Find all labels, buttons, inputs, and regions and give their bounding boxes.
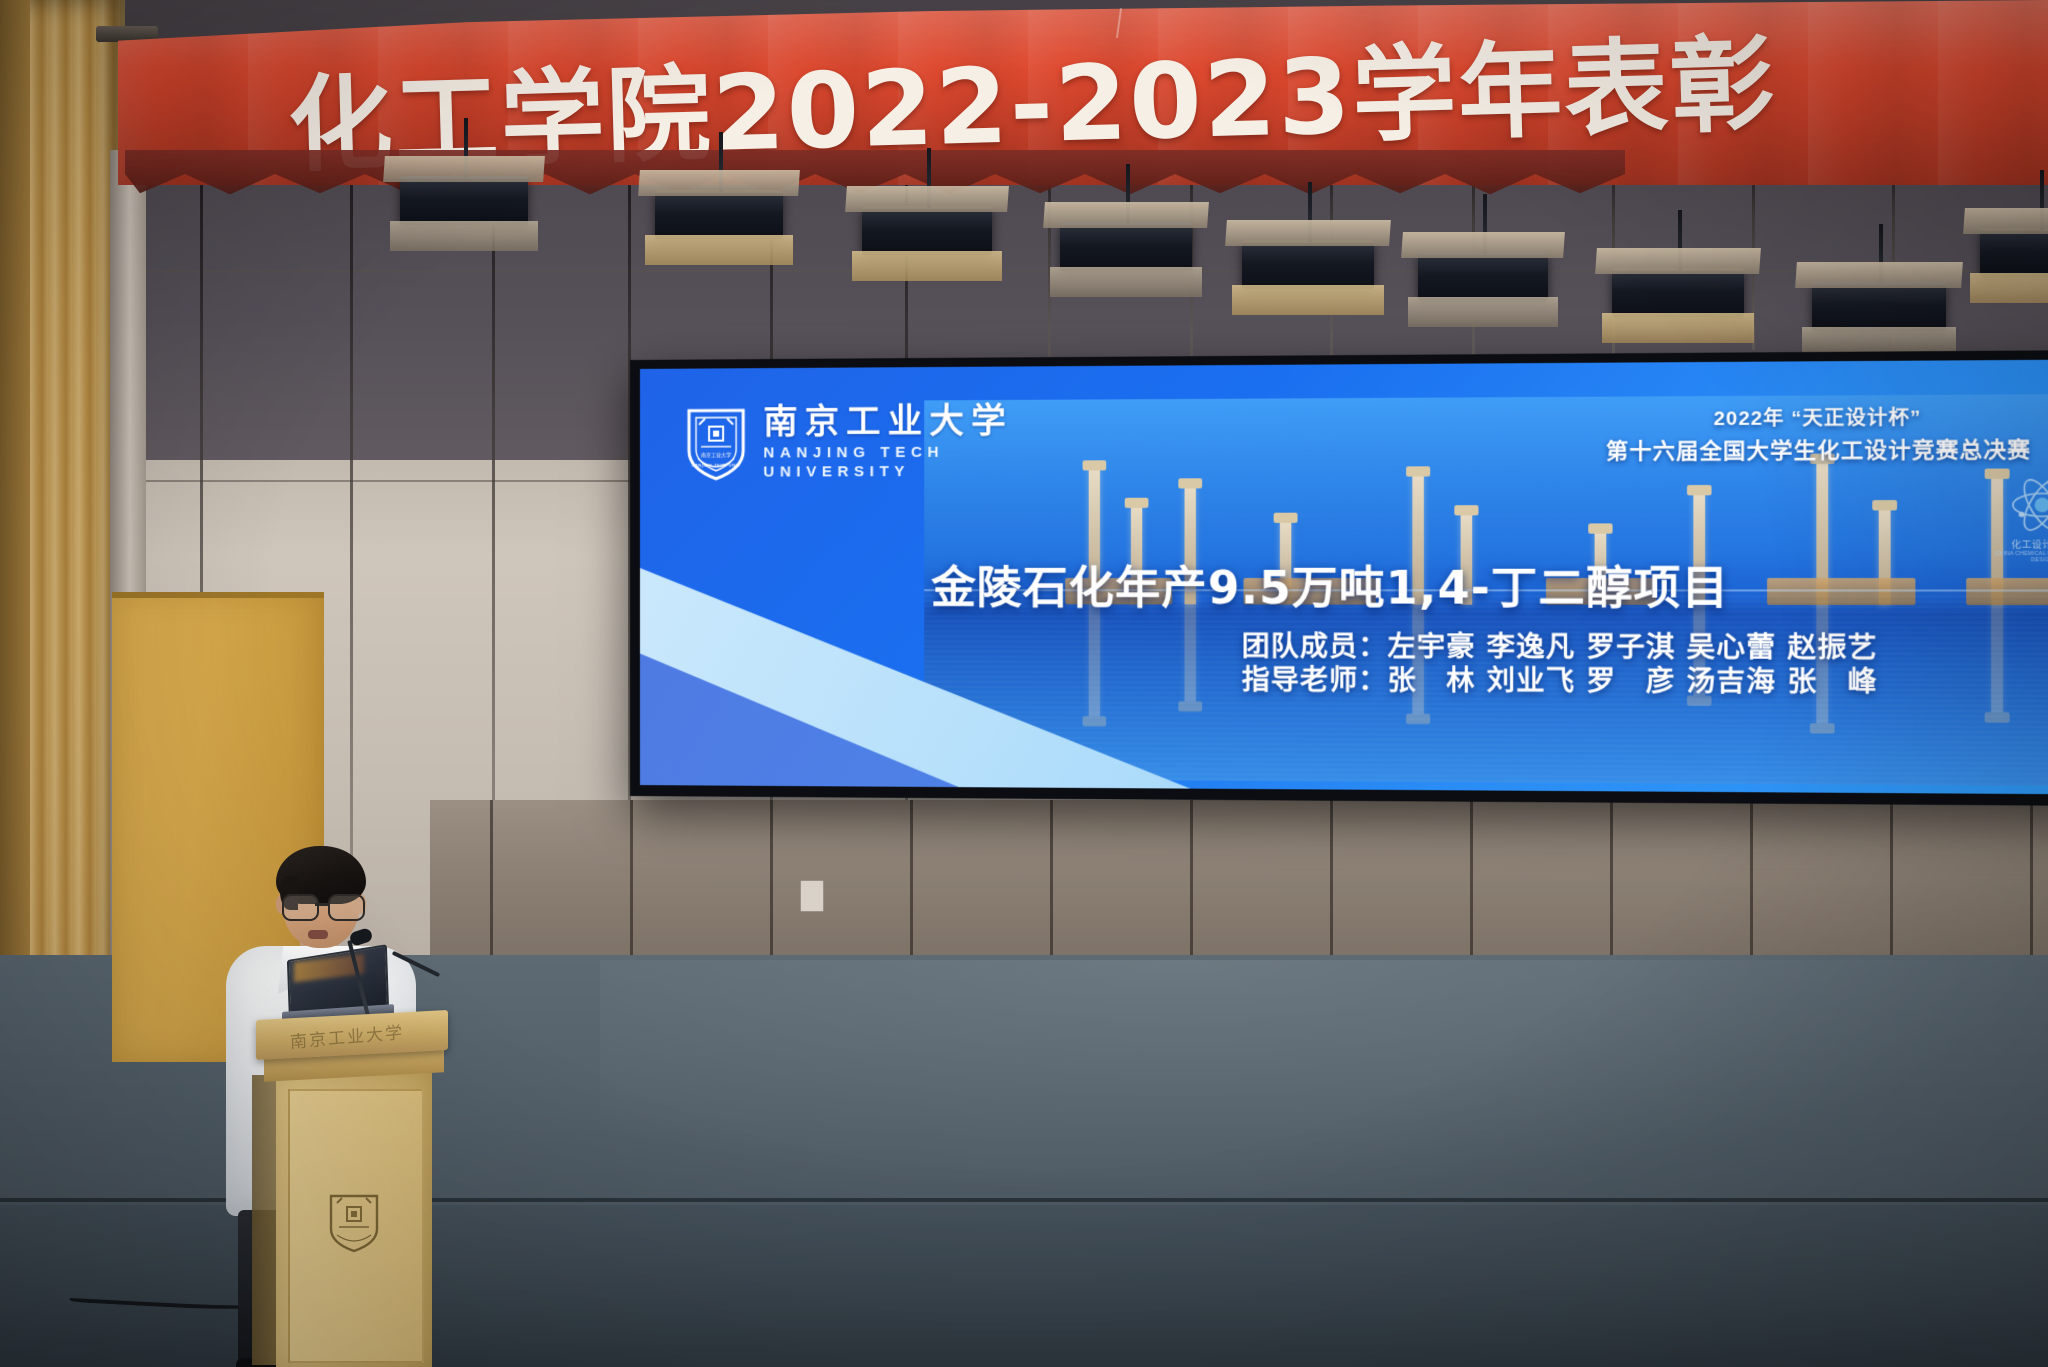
podium-side: [252, 1075, 278, 1365]
speaker-mouth: [308, 930, 328, 939]
university-name-block: 南京工业大学 NANJING TECH UNIVERSITY: [763, 404, 1013, 480]
wall-outlet: [800, 880, 824, 912]
eyeglasses-icon: [280, 894, 364, 918]
university-name-en-line2: UNIVERSITY: [763, 464, 1013, 481]
floor-sheen: [600, 960, 2048, 1200]
competition-header-line1: 2022年 “天正设计杯”: [1606, 401, 2031, 431]
advisors-names: 张 林 刘业飞 罗 彦 汤吉海 张 峰: [1388, 665, 1878, 698]
university-name-cn: 南京工业大学: [763, 404, 1013, 441]
atom-orbit-icon: [2009, 473, 2048, 538]
stage-light-7: [1612, 268, 1744, 317]
slide-title: 金陵石化年产9.5万吨1,4-丁二醇项目: [931, 551, 1729, 617]
competition-logo-subcaption: CHINA CHEMICAL ENGINEERING DESIGN: [1992, 551, 2048, 564]
stage-light-8: [1812, 282, 1946, 331]
lower-wall-wainscot: [430, 800, 2048, 980]
stage-light-2: [655, 190, 783, 239]
competition-header-line2: 第十六届全国大学生化工设计竞赛总决赛: [1606, 432, 2031, 465]
competition-header: 2022年 “天正设计杯” 第十六届全国大学生化工设计竞赛总决赛: [1606, 401, 2031, 465]
stage-light-3: [862, 206, 992, 255]
stage-light-9: [1980, 228, 2048, 277]
competition-logo: 化工设计竞赛 CHINA CHEMICAL ENGINEERING DESIGN: [1992, 473, 2048, 564]
svg-text:NANJING TECH UNIV: NANJING TECH UNIV: [692, 462, 741, 467]
svg-text:南京工业大学: 南京工业大学: [701, 451, 731, 458]
podium: 南京工业大学: [262, 1015, 440, 1367]
wood-slat-wall-shadow: [0, 0, 30, 1080]
university-logo: 南京工业大学 NANJING TECH UNIV 南京工业大学 NANJING …: [685, 404, 1013, 480]
stage-light-4: [1060, 222, 1192, 271]
university-name-en-line1: NANJING TECH: [763, 444, 1013, 461]
nanjing-tech-crest-icon: 南京工业大学 NANJING TECH UNIV: [685, 406, 747, 480]
door-top-edge: [112, 592, 324, 598]
stage-light-5: [1242, 240, 1374, 289]
competition-logo-caption: 化工设计竞赛: [1992, 539, 2048, 550]
led-screen-frame: 南京工业大学 NANJING TECH UNIV 南京工业大学 NANJING …: [630, 350, 2048, 806]
auditorium-photo: 化工学院2022-2023学年表彰: [0, 0, 2048, 1367]
advisors-label: 指导老师：: [1242, 665, 1388, 697]
stage-light-6: [1418, 252, 1548, 301]
presentation-slide: 南京工业大学 NANJING TECH UNIV 南京工业大学 NANJING …: [640, 359, 2048, 794]
advisors-line: 指导老师：张 林 刘业飞 罗 彦 汤吉海 张 峰: [1242, 658, 1878, 700]
podium-shield-emblem-icon: [328, 1193, 380, 1253]
stage-light-1: [400, 176, 528, 225]
